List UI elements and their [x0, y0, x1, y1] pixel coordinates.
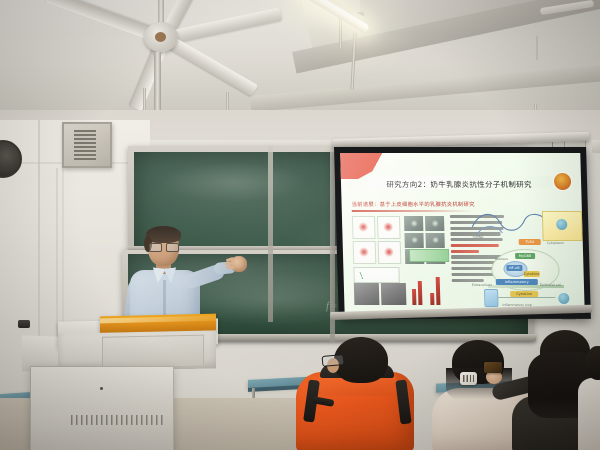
hair-clip	[460, 372, 477, 385]
pathway-arrow	[497, 297, 555, 298]
microscopy-image	[404, 232, 424, 247]
pathway-tag-tlr4: TLR4	[519, 239, 541, 245]
slide-subtitle: 当前进展：基于上皮细胞水平的乳腺抗炎机制研究	[351, 200, 474, 208]
pathway-tag-cytokine: Cytokine	[524, 271, 540, 277]
ceiling-fan	[70, 0, 310, 82]
blackboard-panel-divider	[268, 146, 273, 322]
diagram-label: Epithelial cell	[540, 283, 561, 287]
glasses-icon	[322, 354, 345, 367]
pathway-tag-myd88: MyD88	[515, 253, 535, 259]
pathway-tag-nfkb: NF-κB	[506, 265, 522, 271]
presenter-gesturing-hand	[230, 256, 247, 272]
podium-microphone	[18, 320, 30, 328]
wall-sensor-box	[592, 140, 600, 153]
chalk-smear	[158, 162, 308, 202]
presentation-slide: 研究方向2：奶牛乳腺炎抗性分子机制研究 当前进展：基于上皮细胞水平的乳腺抗炎机制…	[340, 153, 585, 313]
receptor-icon	[484, 289, 499, 307]
flow-cytometry-plot	[377, 216, 401, 239]
slide-divider-rule	[352, 210, 474, 212]
blot-lane	[354, 283, 380, 305]
podium-accent-sheen	[100, 316, 216, 324]
flow-cytometry-plot	[352, 216, 376, 239]
bar-chart-pair	[409, 265, 446, 305]
western-blot	[354, 283, 407, 305]
light-hanger-rod	[536, 36, 538, 60]
fan-hub-cap	[155, 32, 166, 42]
podium-body	[30, 366, 174, 450]
diagram-label: Cytoplasm	[547, 241, 564, 245]
podium-indicator-light	[100, 387, 103, 390]
flow-cytometry-plot	[353, 241, 377, 264]
podium-vent-slots	[71, 415, 163, 425]
wall-vent-louvers	[74, 130, 96, 160]
projection-screen: 研究方向2：奶牛乳腺炎抗性分子机制研究 当前进展：基于上皮细胞水平的乳腺抗炎机制…	[334, 147, 591, 319]
podium-panel-inset	[102, 335, 204, 369]
diagram-label: miRNA	[473, 235, 484, 239]
microscopy-image	[404, 216, 424, 231]
lecture-hall-photo: f=ωt - λ 研究方向2：奶牛乳腺炎抗性分子机制研究 当前进展：基于上皮细胞…	[0, 0, 600, 450]
pathway-tag-outcome: Cytokine	[510, 291, 538, 297]
flow-cytometry-plots	[352, 216, 401, 264]
slide-title: 研究方向2：奶牛乳腺炎抗性分子机制研究	[371, 179, 547, 190]
diagram-label: Nucleus	[495, 257, 508, 261]
university-emblem-icon	[554, 173, 571, 190]
audience-head	[586, 346, 600, 380]
microscopy-image	[425, 232, 445, 247]
flow-cytometry-plot	[378, 241, 402, 264]
audience-torso	[578, 378, 600, 450]
diagram-label: Extracellular	[472, 283, 492, 287]
line-chart	[353, 267, 399, 283]
blot-lane	[381, 283, 407, 305]
pathway-node	[556, 219, 567, 230]
smartphone	[484, 362, 502, 373]
highlight-band	[409, 249, 449, 262]
glasses-icon	[149, 243, 178, 250]
microscopy-image	[425, 216, 445, 231]
effector-node	[558, 293, 569, 304]
wall-vent	[62, 122, 112, 168]
